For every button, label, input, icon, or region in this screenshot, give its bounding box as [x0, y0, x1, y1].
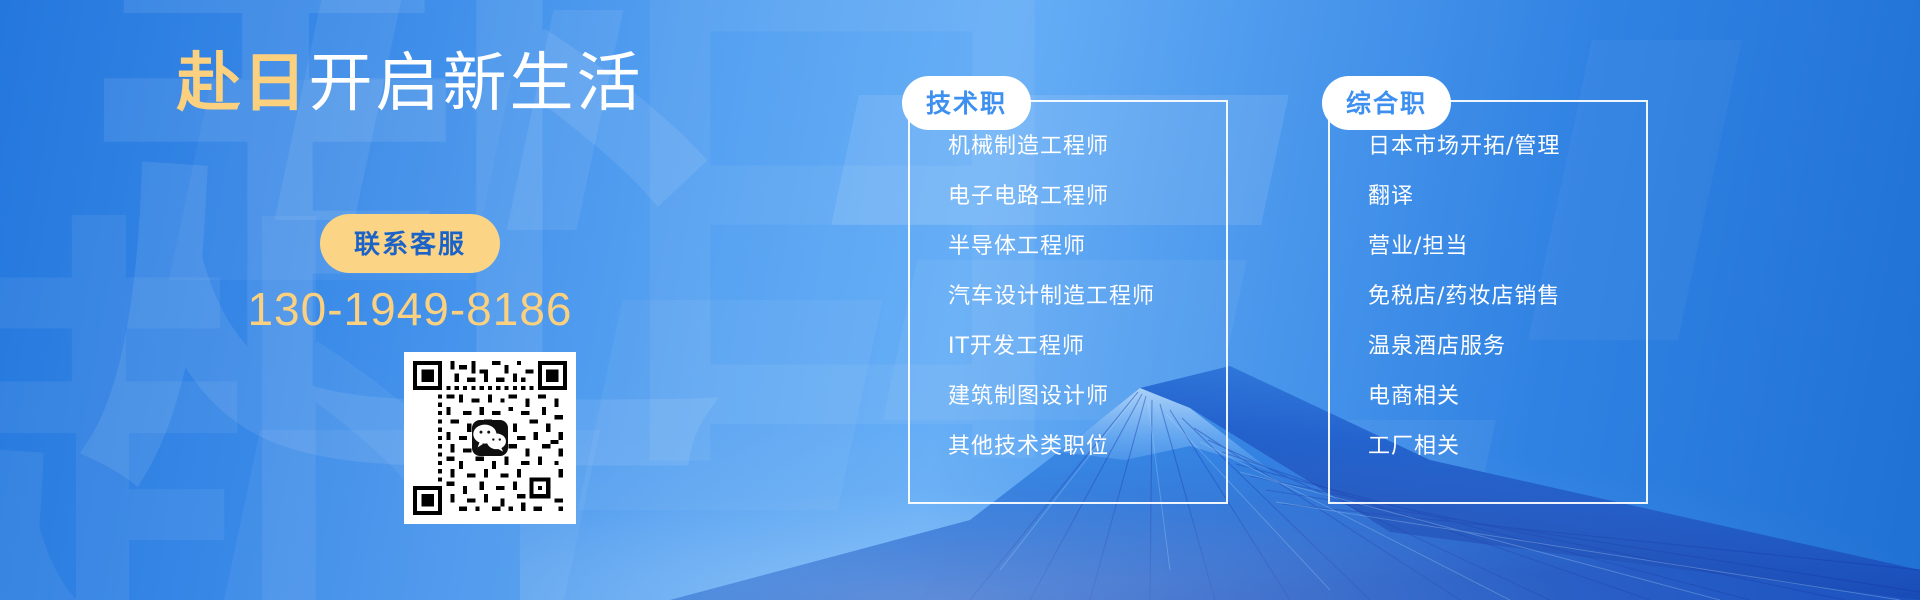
wechat-logo-icon — [472, 420, 508, 456]
wechat-qr-code[interactable] — [404, 352, 576, 524]
job-box: 技术职 机械制造工程师 电子电路工程师 半导体工程师 汽车设计制造工程师 IT开… — [908, 100, 1228, 504]
job-item[interactable]: 建筑制图设计师 — [948, 386, 1226, 408]
job-item[interactable]: 其他技术类职位 — [948, 436, 1226, 458]
headline-rest: 开启新生活 — [309, 47, 644, 121]
job-column-general: 综合职 日本市场开拓/管理 翻译 营业/担当 免税店/药妆店销售 温泉酒店服务 … — [1328, 100, 1648, 504]
job-item[interactable]: 日本市场开拓/管理 — [1368, 136, 1646, 158]
hero-block: 赴日开启新生活 联系客服 130-1949-8186 — [0, 0, 820, 600]
job-item[interactable]: 汽车设计制造工程师 — [948, 286, 1226, 308]
job-box: 综合职 日本市场开拓/管理 翻译 营业/担当 免税店/药妆店销售 温泉酒店服务 … — [1328, 100, 1648, 504]
job-item[interactable]: 温泉酒店服务 — [1368, 336, 1646, 358]
job-item[interactable]: IT开发工程师 — [948, 336, 1226, 358]
job-item[interactable]: 机械制造工程师 — [948, 136, 1226, 158]
job-item[interactable]: 工厂相关 — [1368, 436, 1646, 458]
phone-number[interactable]: 130-1949-8186 — [0, 282, 820, 336]
page-title: 赴日开启新生活 — [0, 52, 820, 116]
job-category-badge-general[interactable]: 综合职 — [1322, 76, 1451, 130]
job-item[interactable]: 半导体工程师 — [948, 236, 1226, 258]
contact-support-button[interactable]: 联系客服 — [320, 214, 500, 273]
job-item[interactable]: 免税店/药妆店销售 — [1368, 286, 1646, 308]
job-item[interactable]: 电商相关 — [1368, 386, 1646, 408]
mount-fuji-image — [670, 270, 1920, 600]
job-item[interactable]: 电子电路工程师 — [948, 186, 1226, 208]
promo-banner: 赴 日 赴 — [0, 0, 1920, 600]
job-column-technical: 技术职 机械制造工程师 电子电路工程师 半导体工程师 汽车设计制造工程师 IT开… — [908, 100, 1228, 504]
job-category-badge-technical[interactable]: 技术职 — [902, 76, 1031, 130]
job-item[interactable]: 营业/担当 — [1368, 236, 1646, 258]
headline-accent: 赴日 — [177, 47, 309, 121]
job-item[interactable]: 翻译 — [1368, 186, 1646, 208]
cta-container: 联系客服 — [0, 214, 820, 273]
